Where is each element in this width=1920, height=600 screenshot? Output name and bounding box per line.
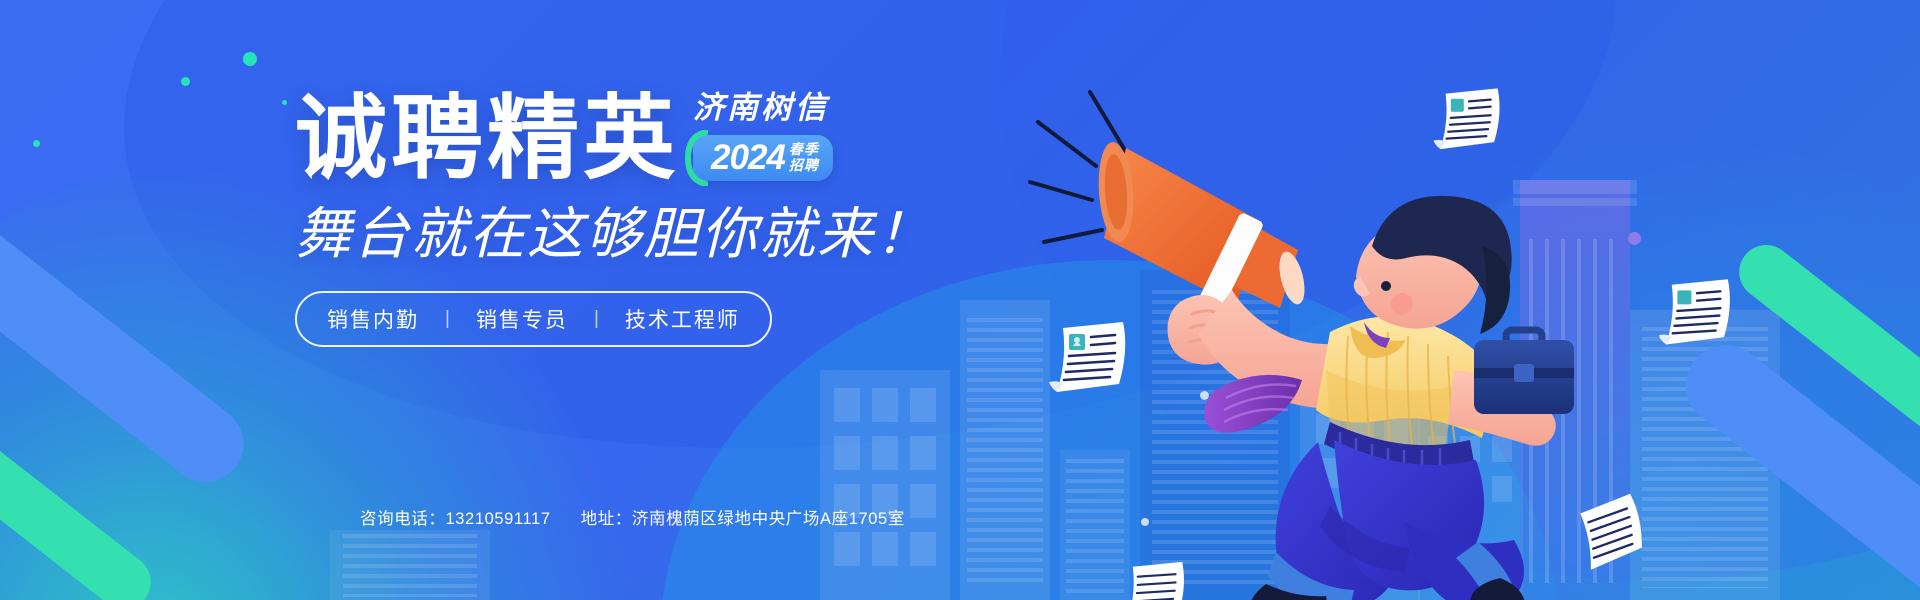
eye (1381, 281, 1391, 291)
building-windows (820, 370, 950, 600)
businessman-with-megaphone-illustration (1030, 70, 1570, 600)
badge-year: 2024 (711, 140, 785, 175)
briefcase-icon (1474, 330, 1574, 414)
badge-season: 春季 招聘 (789, 142, 819, 172)
headline-row: 诚聘精英 济南树信 2024 春季 招聘 (295, 92, 1075, 185)
brand-badge-group: 济南树信 2024 春季 招聘 (693, 92, 833, 185)
resume-paper-3 (1655, 268, 1739, 352)
badge-season-line1: 春季 (789, 142, 819, 157)
season-badge: 2024 春季 招聘 (693, 135, 833, 181)
recruitment-banner: 诚聘精英 济南树信 2024 春季 招聘 舞台就在这够胆你就来！ 销售内勤 | (0, 0, 1920, 600)
head (1354, 196, 1512, 334)
deco-dot-teal-1 (243, 52, 257, 66)
page-title: 诚聘精英 (295, 93, 679, 185)
contact-address: 地址：济南槐荫区绿地中央广场A座1705室 (581, 505, 905, 529)
tag-separator: | (445, 308, 450, 330)
building-windows (343, 534, 477, 597)
job-tag-1[interactable]: 销售专员 (476, 304, 568, 334)
resume-paper-4 (1570, 490, 1650, 570)
megaphone-icon (1096, 141, 1310, 320)
tag-separator: | (594, 308, 599, 330)
contact-info: 咨询电话：13210591117 地址：济南槐荫区绿地中央广场A座1705室 (360, 505, 905, 529)
headline-block: 诚聘精英 济南树信 2024 春季 招聘 舞台就在这够胆你就来！ 销售内勤 | (295, 92, 1075, 347)
contact-phone: 咨询电话：13210591117 (360, 505, 551, 529)
deco-dot-teal-3 (282, 100, 287, 105)
brand-name: 济南树信 (693, 92, 833, 123)
building-1 (330, 530, 490, 600)
job-tag-2[interactable]: 技术工程师 (625, 304, 740, 334)
job-tag-0[interactable]: 销售内勤 (327, 304, 419, 334)
badge-season-line2: 招聘 (789, 158, 819, 173)
deco-dot-teal-4 (33, 140, 40, 147)
subtitle: 舞台就在这够胆你就来！ (295, 203, 1075, 265)
job-tags-pill[interactable]: 销售内勤 | 销售专员 | 技术工程师 (295, 291, 772, 347)
building-2 (820, 370, 950, 600)
swoosh-accent-icon (682, 130, 708, 186)
scarf (1204, 375, 1302, 433)
cheek (1391, 293, 1413, 315)
deco-dot-teal-2 (181, 77, 190, 86)
deco-dot-purple (1628, 232, 1641, 245)
